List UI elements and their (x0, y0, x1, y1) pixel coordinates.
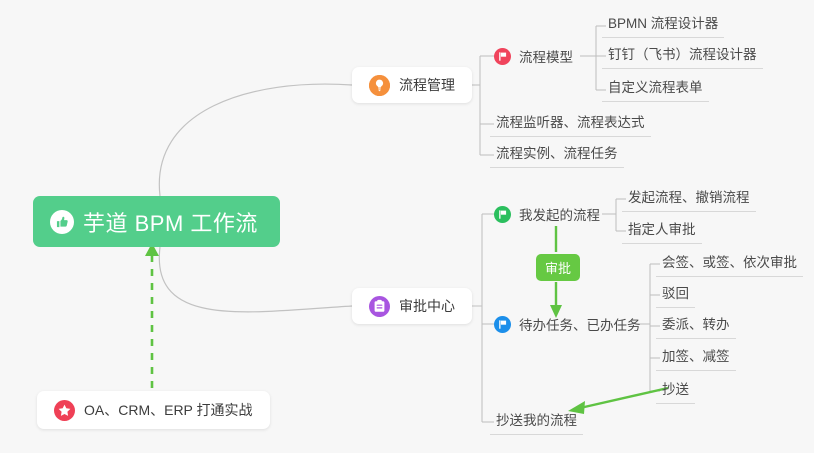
star-icon (54, 400, 75, 421)
subnode-label: 待办任务、已办任务 (519, 314, 641, 334)
subnode-label: 我发起的流程 (519, 204, 600, 224)
subnode-my-initiated[interactable]: 我发起的流程 (494, 204, 600, 224)
leaf-node[interactable]: 指定人审批 (622, 218, 702, 244)
clipboard-icon (369, 296, 390, 317)
flag-icon (494, 316, 511, 333)
flag-icon (494, 206, 511, 223)
root-node[interactable]: 芋道 BPM 工作流 (33, 196, 280, 247)
root-label: 芋道 BPM 工作流 (83, 206, 258, 238)
leaf-node[interactable]: 发起流程、撤销流程 (622, 186, 756, 212)
subnode-todo-done-tasks[interactable]: 待办任务、已办任务 (494, 314, 641, 334)
mindmap-canvas: 芋道 BPM 工作流 流程管理 流程模型 BPMN 流程设计器 钉钉（飞书）流程… (0, 0, 814, 453)
leaf-node[interactable]: 会签、或签、依次审批 (656, 251, 803, 277)
bottom-annotation-node[interactable]: OA、CRM、ERP 打通实战 (37, 391, 270, 429)
approval-badge: 审批 (536, 254, 580, 281)
leaf-node[interactable]: 流程实例、流程任务 (490, 142, 624, 168)
leaf-node[interactable]: BPMN 流程设计器 (602, 12, 724, 38)
bottom-annotation-label: OA、CRM、ERP 打通实战 (84, 400, 253, 420)
leaf-node[interactable]: 钉钉（飞书）流程设计器 (602, 43, 763, 69)
branch-approval-center[interactable]: 审批中心 (352, 288, 472, 324)
flag-icon (494, 48, 511, 65)
leaf-node[interactable]: 驳回 (656, 282, 695, 308)
leaf-node[interactable]: 委派、转办 (656, 313, 736, 339)
leaf-node[interactable]: 自定义流程表单 (602, 76, 709, 102)
branch-label: 审批中心 (399, 296, 455, 316)
branch-label: 流程管理 (399, 75, 455, 95)
leaf-node[interactable]: 抄送 (656, 378, 695, 404)
branch-process-management[interactable]: 流程管理 (352, 67, 472, 103)
thumbs-up-icon (50, 210, 74, 234)
leaf-node[interactable]: 流程监听器、流程表达式 (490, 111, 651, 137)
lightbulb-icon (369, 75, 390, 96)
subnode-label: 流程模型 (519, 46, 573, 66)
leaf-node[interactable]: 抄送我的流程 (490, 409, 583, 435)
subnode-process-model[interactable]: 流程模型 (494, 46, 573, 66)
leaf-node[interactable]: 加签、减签 (656, 345, 736, 371)
